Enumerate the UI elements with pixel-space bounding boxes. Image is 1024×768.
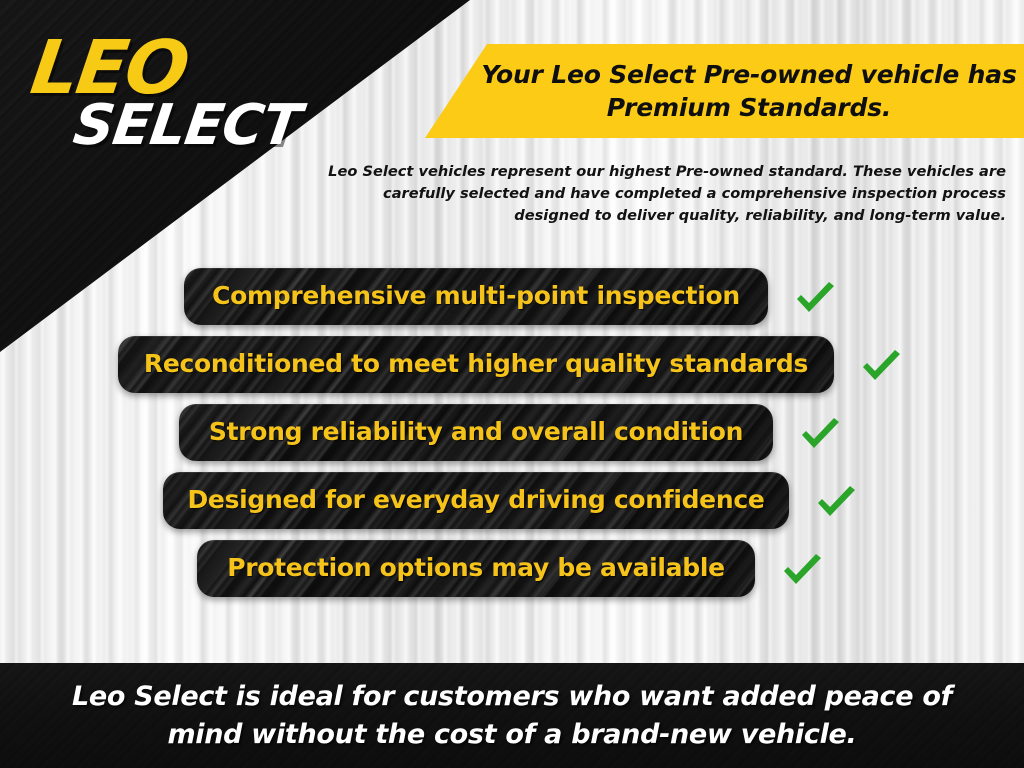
- headline-text: Your Leo Select Pre-owned vehicle has Pr…: [410, 58, 1024, 124]
- feature-label: Strong reliability and overall condition: [209, 417, 743, 446]
- logo-text-leo: LEO: [28, 38, 337, 99]
- list-item: Reconditioned to meet higher quality sta…: [0, 336, 1024, 393]
- headline-banner: Your Leo Select Pre-owned vehicle has Pr…: [410, 44, 1024, 138]
- feature-label: Comprehensive multi-point inspection: [212, 281, 740, 310]
- list-item: Strong reliability and overall condition: [0, 404, 1024, 461]
- list-item: Protection options may be available: [0, 540, 1024, 597]
- feature-label: Designed for everyday driving confidence: [187, 485, 764, 514]
- footer-banner: Leo Select is ideal for customers who wa…: [0, 663, 1024, 768]
- feature-pill: Designed for everyday driving confidence: [163, 472, 788, 529]
- brand-logo: LEO SELECT: [32, 38, 332, 149]
- check-icon: [856, 340, 906, 390]
- feature-pill: Protection options may be available: [197, 540, 755, 597]
- list-item: Designed for everyday driving confidence: [0, 472, 1024, 529]
- feature-pill: Comprehensive multi-point inspection: [184, 268, 768, 325]
- check-icon: [811, 476, 861, 526]
- check-icon: [790, 272, 840, 322]
- feature-label: Reconditioned to meet higher quality sta…: [144, 349, 808, 378]
- check-icon: [777, 544, 827, 594]
- description-paragraph: Leo Select vehicles represent our highes…: [306, 161, 1006, 228]
- feature-label: Protection options may be available: [227, 553, 725, 582]
- feature-pill: Reconditioned to meet higher quality sta…: [118, 336, 834, 393]
- check-icon: [795, 408, 845, 458]
- logo-text-select: SELECT: [71, 103, 335, 149]
- list-item: Comprehensive multi-point inspection: [0, 268, 1024, 325]
- feature-list: Comprehensive multi-point inspection Rec…: [0, 268, 1024, 608]
- footer-text: Leo Select is ideal for customers who wa…: [52, 678, 972, 753]
- leo-select-poster: LEO SELECT Your Leo Select Pre-owned veh…: [0, 0, 1024, 768]
- feature-pill: Strong reliability and overall condition: [179, 404, 773, 461]
